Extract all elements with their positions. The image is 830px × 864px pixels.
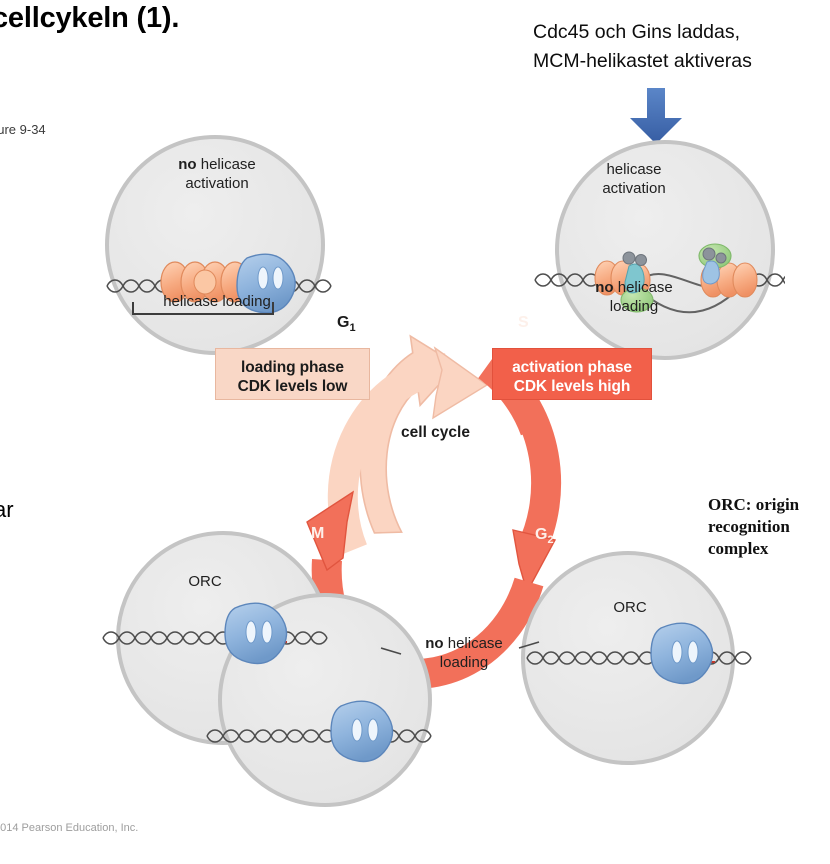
caption-top-right-no-loading: no helicase loading: [550, 278, 718, 316]
copyright-notice: 2014 Pearson Education, Inc.: [0, 822, 138, 834]
annotation-line-1: Cdc45 och Gins laddas,: [533, 18, 830, 47]
caption-bottom-right-orc: ORC: [600, 598, 660, 617]
caption-mid-rest: helicase: [444, 635, 503, 652]
caption-tl-rest: helicase: [197, 156, 256, 173]
loading-phase-line-2: CDK levels low: [216, 377, 369, 396]
annotation-cdc45-gins: Cdc45 och Gins laddas, MCM-helikastet ak…: [533, 18, 830, 76]
activation-phase-box: activation phase CDK levels high: [492, 348, 652, 400]
cell-cycle-center-label: cell cycle: [388, 424, 483, 442]
caption-mid-line2: loading: [400, 653, 528, 672]
caption-between-bottom-cells: no helicase loading: [400, 634, 528, 672]
annotation-line-2: MCM-helikastet aktiveras: [533, 47, 830, 76]
phase-label-m: M: [311, 525, 324, 543]
caption-tr-line1: helicase: [550, 160, 718, 179]
phase-label-g1: G1: [337, 314, 356, 334]
cell-cycle-figure: [95, 130, 785, 820]
caption-tr-line2: activation: [550, 179, 718, 198]
caption-tl-bold: no: [178, 156, 196, 173]
caption-tr-bold: no: [595, 279, 613, 296]
caption-helicase-loading-bracket: helicase loading: [133, 292, 301, 311]
orc-complex-icon: [651, 623, 713, 683]
caption-tr-rest: helicase: [614, 279, 673, 296]
caption-tr-noload-line2: loading: [550, 297, 718, 316]
loading-phase-box: loading phase CDK levels low: [215, 348, 370, 400]
orc-complex-icon: [331, 701, 393, 761]
caption-mid-bold: no: [425, 635, 443, 652]
cell-circle-bottom-right: [523, 553, 751, 763]
orc-complex-icon: [225, 603, 287, 663]
caption-top-left-cell: no helicase activation: [133, 155, 301, 193]
caption-top-right-cell: helicase activation: [550, 160, 718, 198]
phase-label-g2: G2: [535, 526, 554, 546]
page-title: cellcykeln (1).: [0, 2, 179, 35]
caption-tl-line2: activation: [133, 174, 301, 193]
activation-phase-line-1: activation phase: [493, 358, 651, 377]
activation-phase-line-2: CDK levels high: [493, 377, 651, 396]
figure-reference-label: gure 9-34: [0, 122, 46, 137]
caption-bottom-left-orc: ORC: [175, 572, 235, 591]
loading-phase-line-1: loading phase: [216, 358, 369, 377]
phase-label-s: S: [518, 314, 529, 332]
slide-canvas: cellcykeln (1). gure 9-34 ar 2014 Pearso…: [0, 0, 830, 864]
left-margin-note: ar: [0, 495, 14, 525]
